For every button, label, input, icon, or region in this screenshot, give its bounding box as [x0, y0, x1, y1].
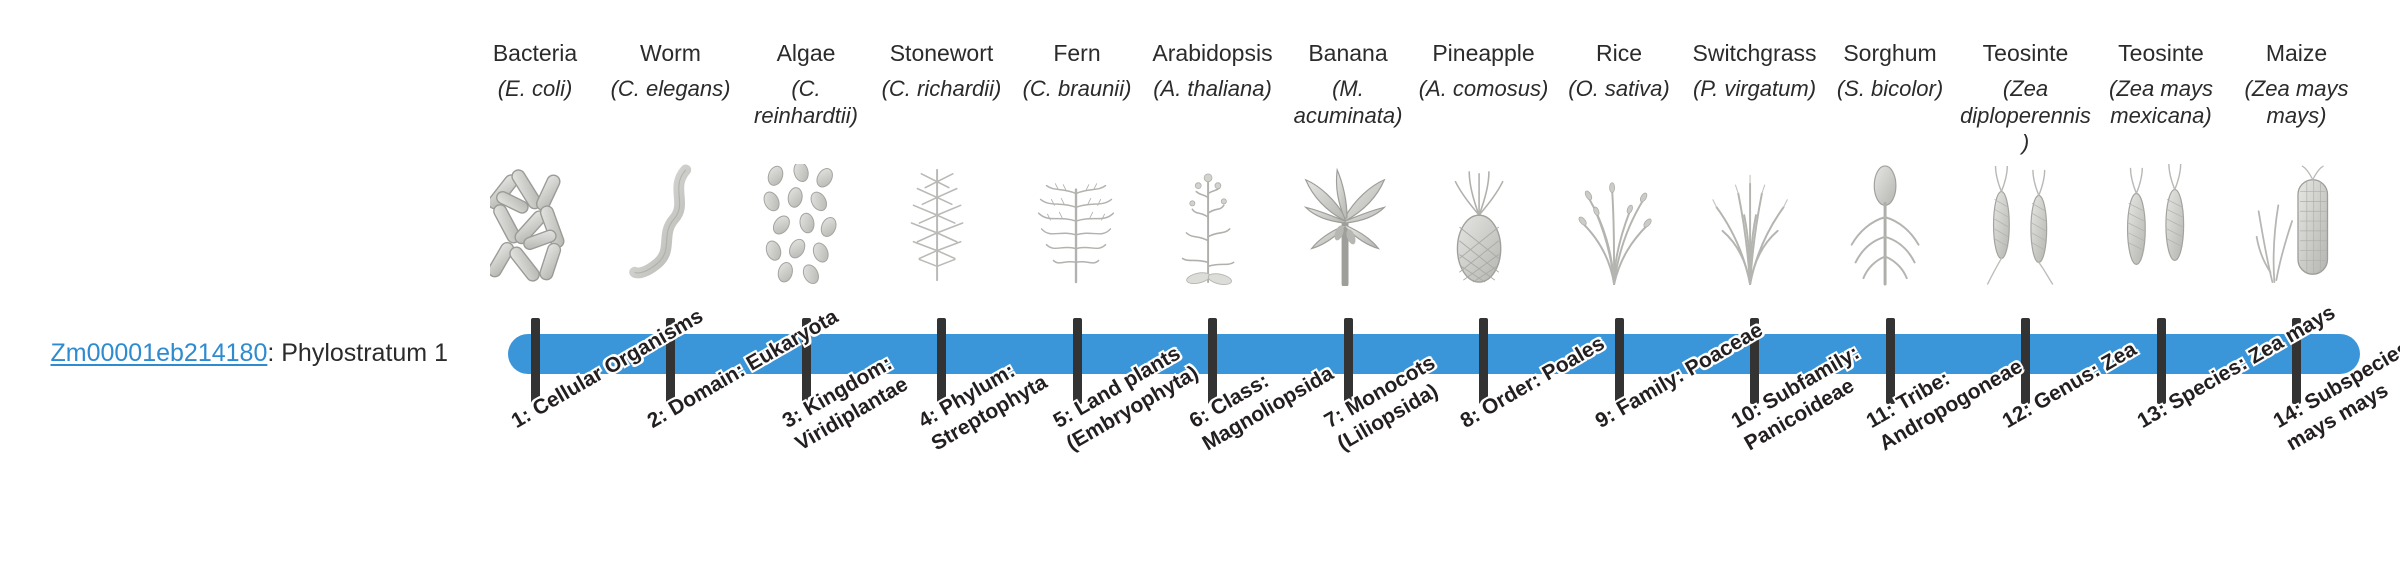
species-common-name: Teosinte	[1958, 38, 2094, 68]
species-column: Fern(C. braunii)	[1009, 38, 1145, 102]
species-latin-name: (O. sativa)	[1551, 75, 1687, 102]
banana-icon	[1280, 164, 1416, 286]
sorghum-icon	[1822, 164, 1958, 286]
species-column: Bacteria(E. coli)	[467, 38, 603, 102]
species-latin-name: (M. acuminata)	[1280, 75, 1416, 129]
teosinte-diplo-icon	[1958, 164, 2094, 286]
species-latin-name: (S. bicolor)	[1822, 75, 1958, 102]
phylostratigraphy-figure: Zm00001eb214180: Phylostratum 1 Bacteria…	[0, 0, 2400, 580]
worm-icon	[603, 164, 739, 286]
species-latin-name: (A. comosus)	[1416, 75, 1552, 102]
species-column: Switchgrass(P. virgatum)	[1687, 38, 1823, 102]
fern-icon	[1009, 164, 1145, 286]
rice-icon	[1551, 164, 1687, 286]
species-latin-name: (A. thaliana)	[1145, 75, 1281, 102]
species-column: Stonewort(C. richardii)	[874, 38, 1010, 102]
stratum-number: 8:	[1456, 404, 1484, 433]
species-latin-name: (C. elegans)	[603, 75, 739, 102]
stratum-number: 1:	[508, 404, 536, 433]
species-column: Banana(M. acuminata)	[1280, 38, 1416, 129]
stratum-number: 9:	[1592, 404, 1620, 433]
gene-id-link[interactable]: Zm00001eb214180	[51, 339, 268, 367]
stratum-text: Class: Magnoliopsida	[1198, 362, 1337, 455]
switchgrass-icon	[1687, 164, 1823, 286]
maize-icon	[2229, 164, 2365, 286]
species-common-name: Teosinte	[2093, 38, 2229, 68]
phylostratum-text: : Phylostratum 1	[267, 339, 448, 367]
gene-row-label: Zm00001eb214180: Phylostratum 1	[0, 338, 460, 368]
species-latin-name: (C. braunii)	[1009, 75, 1145, 102]
stonewort-icon	[874, 164, 1010, 286]
species-latin-name: (Zea diploperennis)	[1958, 75, 2094, 156]
species-common-name: Arabidopsis	[1145, 38, 1281, 68]
species-common-name: Switchgrass	[1687, 38, 1823, 68]
species-common-name: Fern	[1009, 38, 1145, 68]
species-latin-name: (Zea mays mexicana)	[2093, 75, 2229, 129]
species-common-name: Maize	[2229, 38, 2365, 68]
stratum-tick[interactable]	[531, 318, 540, 404]
species-common-name: Worm	[603, 38, 739, 68]
species-common-name: Sorghum	[1822, 38, 1958, 68]
stratum-number: 2:	[643, 404, 671, 433]
species-common-name: Rice	[1551, 38, 1687, 68]
species-common-name: Stonewort	[874, 38, 1010, 68]
species-latin-name: (E. coli)	[467, 75, 603, 102]
species-common-name: Algae	[738, 38, 874, 68]
species-column: Sorghum(S. bicolor)	[1822, 38, 1958, 102]
species-column: Algae(C. reinhardtii)	[738, 38, 874, 129]
species-latin-name: (C. reinhardtii)	[738, 75, 874, 129]
species-latin-name: (P. virgatum)	[1687, 75, 1823, 102]
species-common-name: Banana	[1280, 38, 1416, 68]
bacteria-icon	[467, 164, 603, 286]
species-common-name: Pineapple	[1416, 38, 1552, 68]
stratum-number: 12:	[1998, 398, 2036, 433]
algae-icon	[738, 164, 874, 286]
teosinte-mex-icon	[2093, 164, 2229, 286]
pineapple-icon	[1416, 164, 1552, 286]
arabidopsis-icon	[1145, 164, 1281, 286]
species-column: Teosinte(Zea diploperennis)	[1958, 38, 2094, 156]
species-column: Pineapple(A. comosus)	[1416, 38, 1552, 102]
species-common-name: Bacteria	[467, 38, 603, 68]
species-latin-name: (C. richardii)	[874, 75, 1010, 102]
species-column: Rice(O. sativa)	[1551, 38, 1687, 102]
species-column: Maize(Zea mays mays)	[2229, 38, 2365, 129]
species-header-track: Bacteria(E. coli)Worm(C. elegans)Algae(C…	[0, 0, 2400, 300]
species-column: Teosinte(Zea mays mexicana)	[2093, 38, 2229, 129]
stratum-number: 13:	[2134, 398, 2172, 433]
species-column: Arabidopsis(A. thaliana)	[1145, 38, 1281, 102]
species-latin-name: (Zea mays mays)	[2229, 75, 2365, 129]
species-column: Worm(C. elegans)	[603, 38, 739, 102]
